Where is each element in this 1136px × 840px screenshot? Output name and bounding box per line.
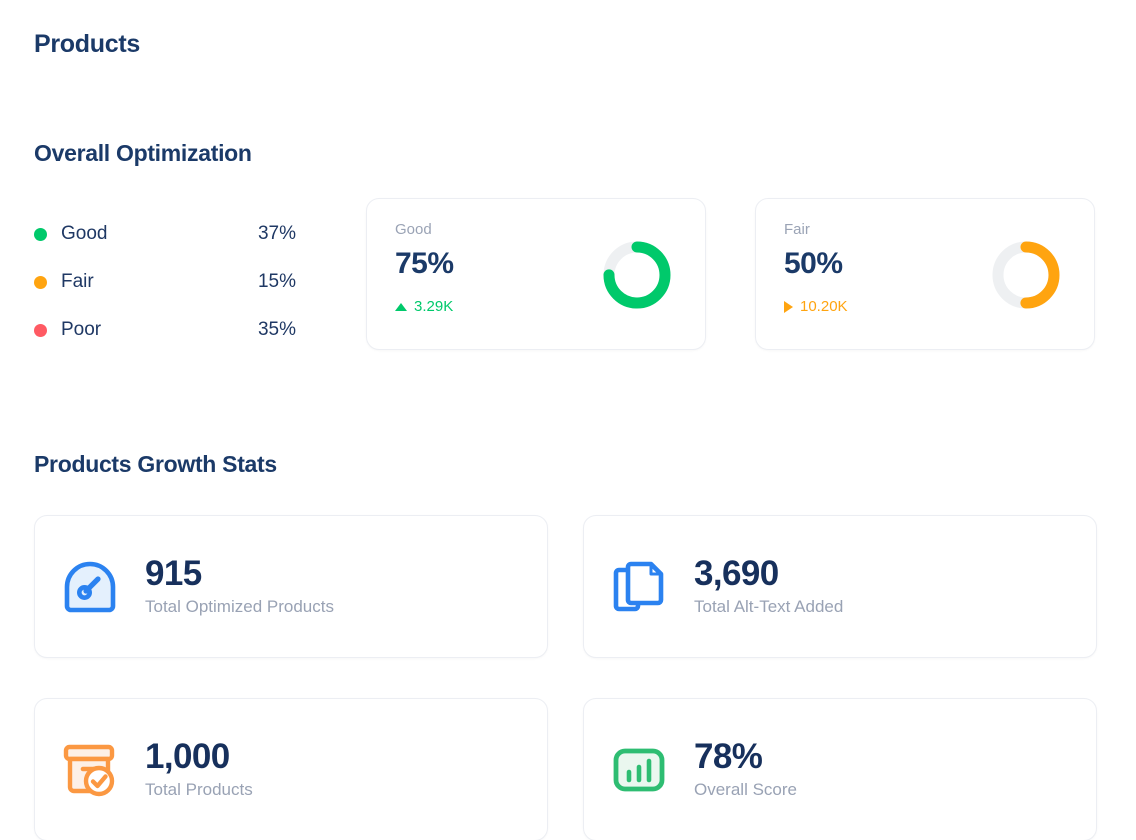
status-dot-icon [34, 324, 47, 337]
status-dot-icon [34, 276, 47, 289]
stat-card-value: 3,690 [694, 556, 843, 593]
optimization-card-value: 75% [395, 247, 454, 281]
optimization-card-fair[interactable]: Fair 50% 10.20K [755, 198, 1095, 350]
stat-card-text: 915 Total Optimized Products [145, 556, 334, 617]
stat-card-label: Total Products [145, 780, 253, 800]
stat-card-text: 78% Overall Score [694, 739, 797, 800]
stat-card-total-alt-text-added[interactable]: 3,690 Total Alt-Text Added [583, 515, 1097, 658]
stat-card-label: Total Optimized Products [145, 597, 334, 617]
stat-card-value: 915 [145, 556, 334, 593]
optimization-card-delta: 3.29K [395, 298, 453, 315]
optimization-card-value: 50% [784, 247, 843, 281]
status-dot-icon [34, 228, 47, 241]
section-title-overall-optimization: Overall Optimization [34, 140, 252, 167]
optimization-card-label: Fair [784, 221, 810, 238]
optimization-card-delta: 10.20K [784, 298, 848, 315]
optimization-card-delta-value: 3.29K [414, 298, 453, 315]
donut-chart-good [599, 237, 675, 313]
donut-chart-fair [988, 237, 1064, 313]
legend-item-value: 15% [258, 271, 296, 293]
documents-copy-icon [602, 550, 676, 624]
page-title: Products [34, 30, 140, 59]
section-title-products-growth-stats: Products Growth Stats [34, 451, 277, 478]
archive-box-check-icon [53, 733, 127, 807]
optimization-legend: Good 37% Fair 15% Poor 35% [34, 210, 296, 354]
triangle-right-icon [784, 301, 793, 313]
triangle-up-icon [395, 303, 407, 311]
gauge-icon [53, 550, 127, 624]
stat-card-overall-score[interactable]: 78% Overall Score [583, 698, 1097, 840]
legend-item-label: Poor [61, 319, 258, 341]
legend-item: Good 37% [34, 210, 296, 258]
stat-card-text: 1,000 Total Products [145, 739, 253, 800]
legend-item: Fair 15% [34, 258, 296, 306]
stat-card-label: Overall Score [694, 780, 797, 800]
optimization-card-label: Good [395, 221, 432, 238]
legend-item-value: 37% [258, 223, 296, 245]
optimization-card-good[interactable]: Good 75% 3.29K [366, 198, 706, 350]
legend-item-label: Fair [61, 271, 258, 293]
legend-item: Poor 35% [34, 306, 296, 354]
legend-item-label: Good [61, 223, 258, 245]
stat-card-label: Total Alt-Text Added [694, 597, 843, 617]
bar-chart-icon [602, 733, 676, 807]
products-dashboard: Products Overall Optimization Good 37% F… [0, 0, 1136, 840]
optimization-card-delta-value: 10.20K [800, 298, 848, 315]
stat-card-total-optimized-products[interactable]: 915 Total Optimized Products [34, 515, 548, 658]
stat-card-value: 78% [694, 739, 797, 776]
stat-card-value: 1,000 [145, 739, 253, 776]
stat-card-text: 3,690 Total Alt-Text Added [694, 556, 843, 617]
legend-item-value: 35% [258, 319, 296, 341]
stat-card-total-products[interactable]: 1,000 Total Products [34, 698, 548, 840]
